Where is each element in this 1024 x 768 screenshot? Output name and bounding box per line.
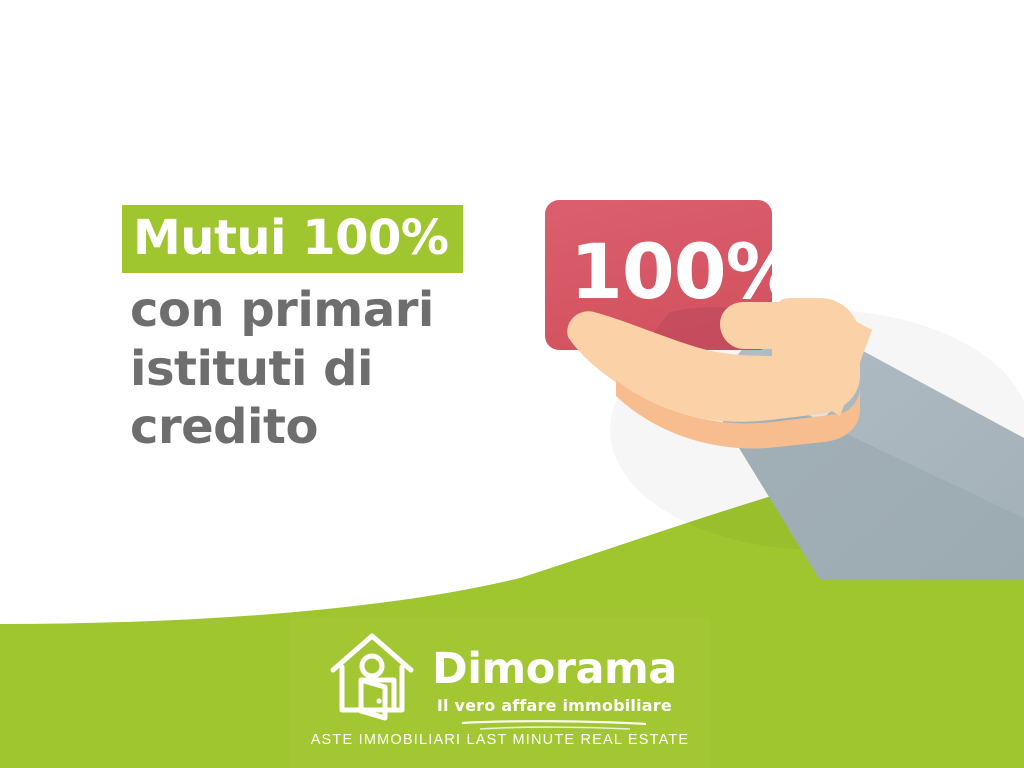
- headline-highlight-box: Mutui 100%: [122, 205, 463, 273]
- house-roof-and-walls: [333, 636, 411, 710]
- wordmark-block: Dimorama Il vero affare immobiliare: [432, 630, 677, 737]
- logo-lockup[interactable]: Dimorama Il vero affare immobiliare ASTE…: [290, 618, 710, 768]
- headline-group: Mutui 100% con primari istituti di credi…: [122, 205, 582, 457]
- hand-with-percent-card-illustration: 100%: [520, 180, 1024, 580]
- headline-subtext: con primari istituti di credito: [122, 281, 582, 457]
- house-door-knob-icon: [376, 698, 381, 703]
- flourish-divider: [454, 720, 654, 732]
- headline-line-1: Mutui 100%: [133, 210, 449, 266]
- services-line: ASTE IMMOBILIARI LAST MINUTE REAL ESTATE: [290, 732, 710, 748]
- promo-banner: Mutui 100% con primari istituti di credi…: [0, 0, 1024, 768]
- brand-name: Dimorama: [432, 648, 677, 691]
- headline-line-3: istituti di: [130, 340, 582, 399]
- headline-line-2: con primari: [130, 281, 582, 340]
- brand-tagline: Il vero affare immobiliare: [432, 698, 677, 714]
- house-icon: [328, 630, 416, 722]
- headline-line-4: credito: [130, 398, 582, 457]
- logo-row: Dimorama Il vero affare immobiliare: [328, 630, 677, 737]
- house-window-icon: [362, 656, 382, 676]
